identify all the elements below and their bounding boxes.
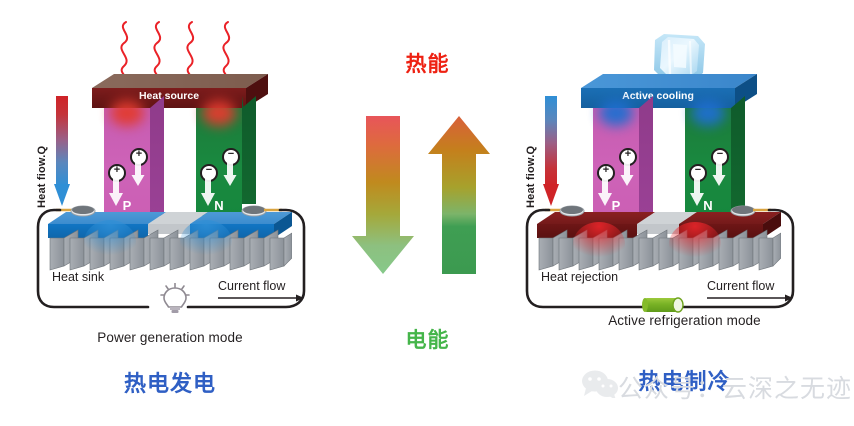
heat-rejection-label: Heat rejection	[541, 270, 618, 284]
center-bottom-label: 电能	[340, 324, 515, 354]
wechat-icon	[580, 370, 620, 398]
carrier-drift-arrow	[130, 162, 146, 186]
left-panel-power-generation: Heat fiow.Q Heat source	[0, 0, 340, 426]
heat-flow-arrow-left	[54, 96, 70, 208]
electricity-to-heat-arrow	[428, 116, 490, 274]
current-flow-label-left: Current flow	[218, 279, 285, 293]
carrier-symbol: −	[713, 149, 727, 160]
carrier-symbol: −	[691, 165, 705, 176]
carrier-drift-arrow	[619, 162, 635, 186]
carrier-drift-arrow	[222, 162, 238, 186]
watermark-text: 公众号：云深之无迹	[618, 369, 852, 405]
carrier-symbol: −	[202, 165, 216, 176]
heat-to-electricity-arrow	[352, 116, 414, 274]
current-flow-label-right: Current flow	[707, 279, 774, 293]
cn-title-left: 热电发电	[0, 366, 340, 398]
mode-caption-left: Power generation mode	[0, 330, 340, 345]
heat-flow-arrow-right	[543, 96, 559, 208]
right-panel-active-refrigeration: Heat fiow.Q Active cooling	[515, 0, 854, 426]
carrier-symbol: +	[132, 149, 146, 160]
heat-flow-label-right: Heat fiow.Q	[525, 100, 537, 208]
carrier-symbol: +	[110, 165, 124, 176]
heat-flow-label-left: Heat fiow.Q	[36, 100, 48, 208]
thermoelectric-figure: Heat fiow.Q Heat source	[0, 0, 854, 426]
center-energy-conversion: 热能	[340, 0, 515, 426]
current-flow-arrow-left	[218, 294, 304, 304]
carrier-symbol: +	[599, 165, 613, 176]
carrier-symbol: −	[224, 149, 238, 160]
current-flow-arrow-right	[707, 294, 793, 304]
heat-sink-label: Heat sink	[52, 270, 104, 284]
carrier-symbol: +	[621, 149, 635, 160]
mode-caption-right: Active refrigeration mode	[515, 313, 854, 328]
carrier-drift-arrow	[711, 162, 727, 186]
center-top-label: 热能	[340, 48, 515, 78]
lightbulb-icon	[158, 283, 192, 313]
